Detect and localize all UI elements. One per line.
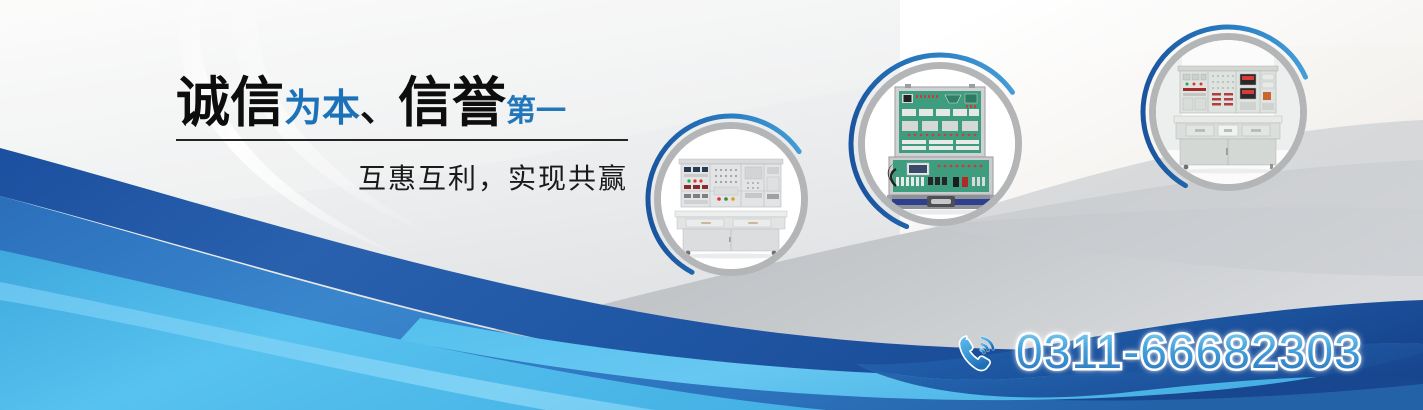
phone-number: 0311-66682303: [1016, 326, 1362, 379]
headline-row: 诚信 为本 、 信誉 第一: [176, 76, 628, 130]
headline-part-4: 第一: [506, 97, 566, 127]
phone-number-wrap: 0311-66682303 0311-66682303: [1016, 325, 1362, 380]
phone-ringing-icon: [952, 328, 1002, 378]
headline-separator: 、: [360, 90, 398, 128]
contact-phone-block[interactable]: 0311-66682303 0311-66682303: [952, 325, 1362, 380]
product-photo-pcb-case: [865, 69, 1015, 219]
headline-divider: [176, 139, 628, 141]
circle-grey-ring: [1149, 33, 1307, 191]
promotional-banner: 诚信 为本 、 信誉 第一 互惠互利，实现共赢: [0, 0, 1423, 410]
headline-part-2: 为本: [284, 90, 360, 128]
circle-grey-ring: [858, 62, 1022, 226]
circle-grey-ring: [654, 122, 808, 276]
product-circle-2[interactable]: [848, 52, 1032, 236]
product-photo-control-workbench: [1156, 40, 1300, 184]
headline-part-3: 信誉: [398, 76, 506, 130]
product-circle-1[interactable]: [645, 113, 817, 285]
headline-block: 诚信 为本 、 信誉 第一 互惠互利，实现共赢: [176, 76, 628, 197]
headline-part-1: 诚信: [176, 76, 284, 130]
product-photo-workbench: [661, 129, 801, 269]
product-circle-3[interactable]: [1140, 24, 1316, 200]
headline-subtitle: 互惠互利，实现共赢: [176, 157, 628, 197]
